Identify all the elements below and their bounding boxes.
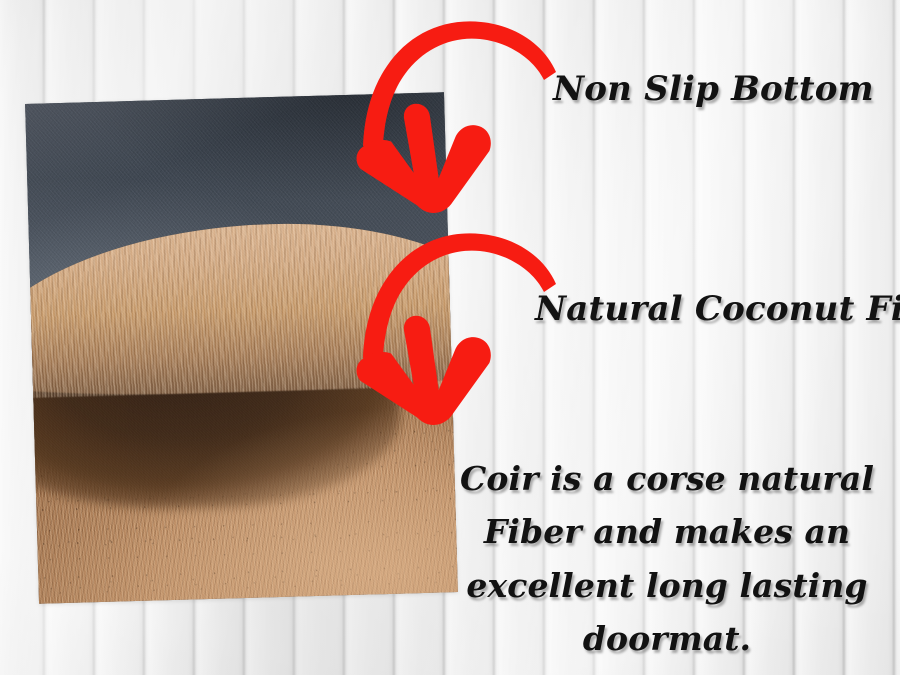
body-copy-text: Coir is a corse natural Fiber and makes … — [452, 452, 882, 666]
infographic-canvas: Non Slip Bottom Natural Coconut Fibers C… — [0, 0, 900, 675]
callout-label-non-slip-bottom: Non Slip Bottom — [553, 72, 874, 108]
product-photo — [25, 92, 458, 604]
coir-fringe-edge — [25, 217, 458, 402]
coir-pile-region — [25, 217, 458, 604]
fringe-bristle-texture — [25, 217, 458, 402]
doormat-photo-content — [25, 92, 458, 604]
callout-label-natural-coconut-fibers: Natural Coconut Fibers — [535, 292, 900, 328]
